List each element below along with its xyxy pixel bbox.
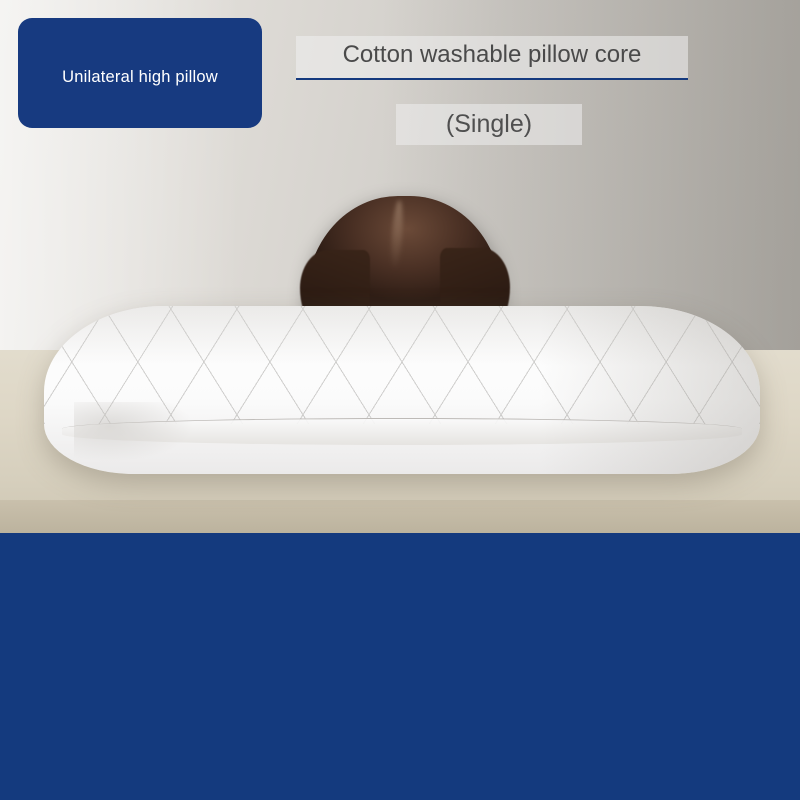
pillow-fold <box>74 402 194 462</box>
feature-badge-label: Unilateral high pillow <box>62 68 218 87</box>
pillow <box>44 306 760 474</box>
product-title: Cotton washable pillow core <box>296 36 688 80</box>
bed-edge <box>0 500 800 533</box>
spec-panel: 1 Weight about 900 grams (0.90kg) 2 Pill… <box>0 533 800 800</box>
product-subtitle: (Single) <box>396 104 582 145</box>
product-photo: Unilateral high pillow Cotton washable p… <box>0 0 800 533</box>
pillow-right-shading <box>540 306 760 474</box>
product-infographic: Unilateral high pillow Cotton washable p… <box>0 0 800 800</box>
feature-badge: Unilateral high pillow <box>18 18 262 128</box>
